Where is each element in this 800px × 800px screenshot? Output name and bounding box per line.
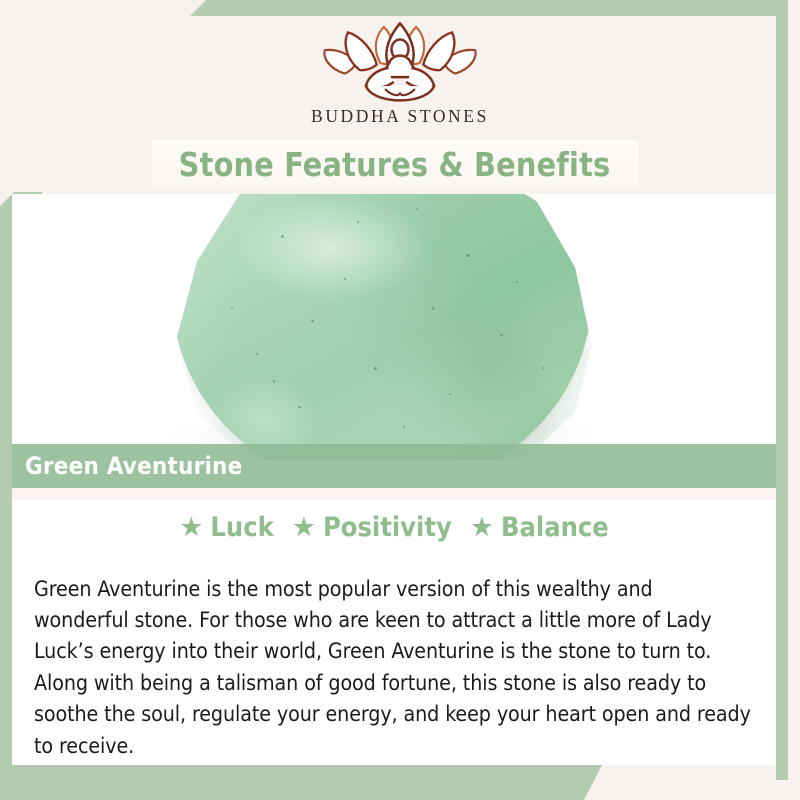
green-aventurine-stone [172,194,592,460]
frame-top-band [190,0,788,16]
benefit-item-luck: ★ Luck [179,512,274,543]
benefit-item-positivity: ★ Positivity [292,512,452,543]
lotus-meditation-icon [310,18,490,104]
benefit-label: Positivity [323,512,452,543]
stone-name-label: Green Aventurine [25,452,242,480]
star-icon: ★ [292,514,316,541]
benefits-row: ★ Luck ★ Positivity ★ Balance [12,506,776,548]
frame-bottom-band [0,765,602,800]
stone-name-band: Green Aventurine [12,444,776,488]
stone-photo [12,194,776,460]
content-panel: Green Aventurine ★ Luck ★ Positivity ★ B… [12,194,776,765]
band-underline-strip [12,488,776,500]
star-icon: ★ [179,514,203,541]
brand-name: BUDDHA STONES [311,106,489,127]
star-icon: ★ [470,514,494,541]
stone-description: Green Aventurine is the most popular ver… [34,574,751,762]
benefit-label: Balance [501,512,609,543]
stone-facets [172,194,592,460]
title-banner: Stone Features & Benefits [152,140,638,188]
infographic-page: BUDDHA STONES Stone Features & Benefits [0,0,800,800]
brand-logo: BUDDHA STONES [0,18,800,138]
benefit-label: Luck [210,512,273,543]
benefit-item-balance: ★ Balance [470,512,609,543]
page-title: Stone Features & Benefits [179,145,611,184]
